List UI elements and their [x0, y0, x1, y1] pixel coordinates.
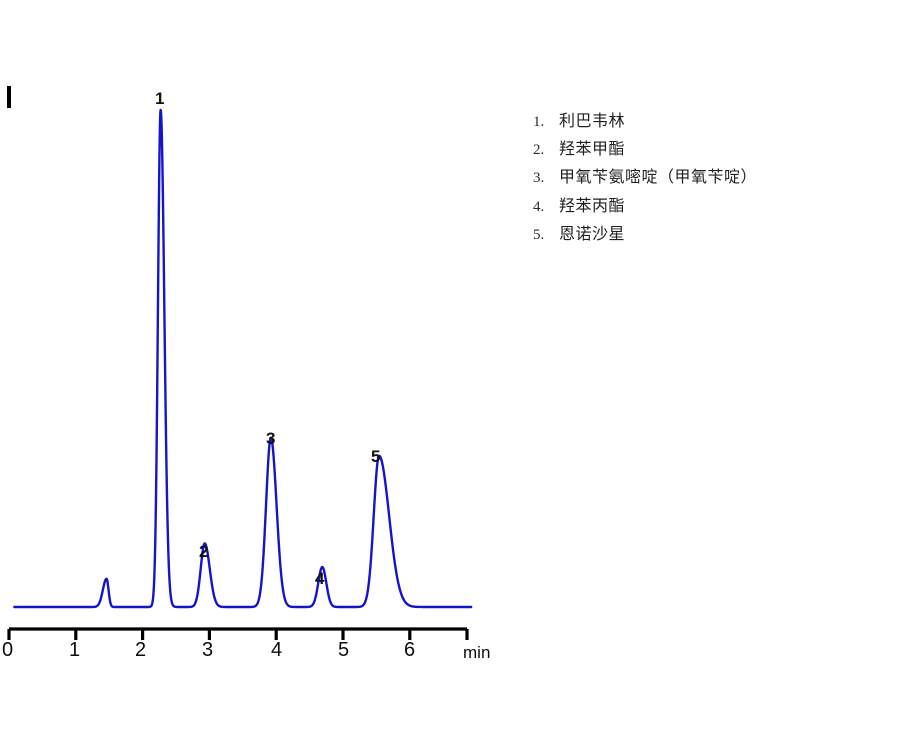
axis-tick-label-1: 1 — [69, 640, 80, 660]
legend-item-5: 5. 恩诺沙星 — [533, 224, 873, 245]
legend-index-4: 4. — [533, 198, 559, 217]
legend-index-2: 2. — [533, 141, 559, 160]
peak-label-2: 2 — [199, 543, 208, 560]
peak-label-5: 5 — [371, 448, 380, 465]
axis-tick-label-4: 4 — [271, 640, 282, 660]
axis-unit-label: min — [463, 644, 490, 661]
axis-tick-label-2: 2 — [135, 640, 146, 660]
legend-name-4: 羟苯丙酯 — [559, 196, 625, 216]
legend-name-3: 甲氧苄氨嘧啶（甲氧苄啶） — [559, 167, 757, 187]
legend-item-2: 2. 羟苯甲酯 — [533, 139, 873, 160]
legend-item-1: 1. 利巴韦林 — [533, 111, 873, 132]
chromatogram-trace — [14, 110, 471, 607]
legend-name-1: 利巴韦林 — [559, 111, 625, 131]
peak-label-1: 1 — [155, 90, 164, 107]
axis-tick-label-0: 0 — [2, 640, 13, 660]
legend-index-3: 3. — [533, 169, 559, 188]
legend-index-1: 1. — [533, 113, 559, 132]
axis-tick-label-5: 5 — [338, 640, 349, 660]
legend: 1. 利巴韦林 2. 羟苯甲酯 3. 甲氧苄氨嘧啶（甲氧苄啶） 4. 羟苯丙酯 … — [533, 111, 873, 252]
peak-label-4: 4 — [315, 570, 324, 587]
chromatogram-figure: 1 2 3 4 5 0 1 2 3 4 5 6 min 1. 利巴韦林 2. 羟… — [0, 0, 920, 744]
legend-index-5: 5. — [533, 226, 559, 245]
legend-item-4: 4. 羟苯丙酯 — [533, 196, 873, 217]
legend-name-2: 羟苯甲酯 — [559, 139, 625, 159]
axis-tick-label-3: 3 — [202, 640, 213, 660]
legend-item-3: 3. 甲氧苄氨嘧啶（甲氧苄啶） — [533, 167, 873, 188]
legend-name-5: 恩诺沙星 — [559, 224, 625, 244]
peak-label-3: 3 — [266, 430, 275, 447]
axis-tick-label-6: 6 — [404, 640, 415, 660]
